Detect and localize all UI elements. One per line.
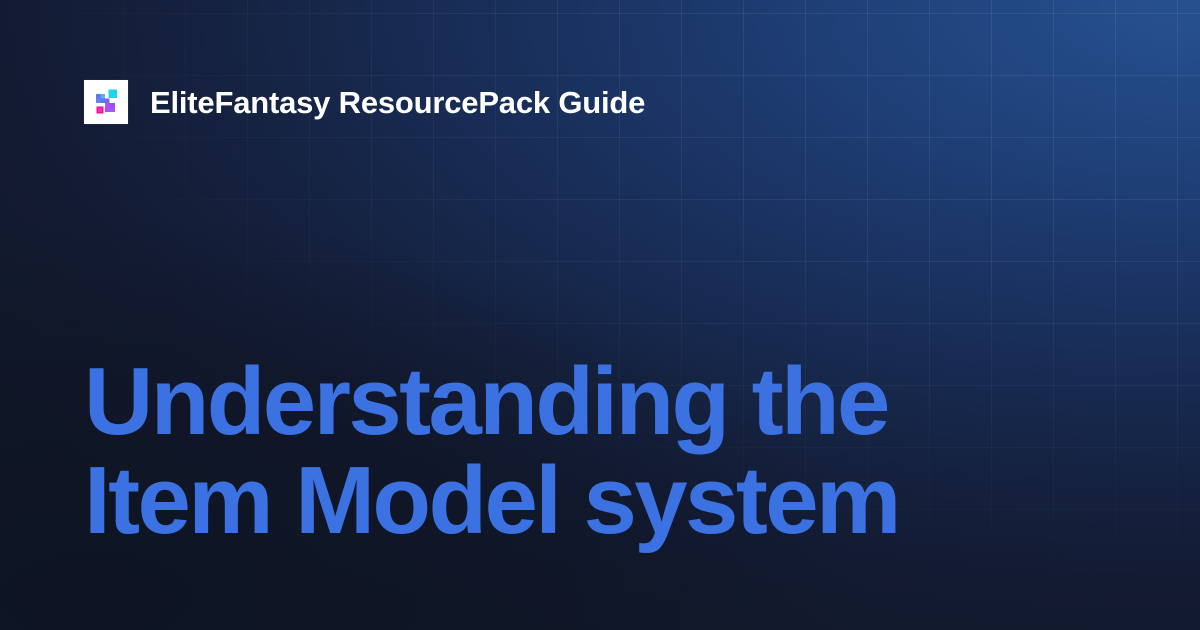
card-content: EliteFantasy ResourcePack Guide Understa…: [0, 0, 1200, 630]
elitefantasy-logo-icon: [84, 80, 128, 124]
brand-row: EliteFantasy ResourcePack Guide: [84, 80, 645, 124]
page-title-line-2: Item Model system: [84, 451, 1064, 550]
og-card: EliteFantasy ResourcePack Guide Understa…: [0, 0, 1200, 630]
brand-title: EliteFantasy ResourcePack Guide: [150, 87, 645, 118]
page-title: Understanding the Item Model system: [84, 352, 1064, 550]
page-title-line-1: Understanding the: [84, 352, 1064, 451]
